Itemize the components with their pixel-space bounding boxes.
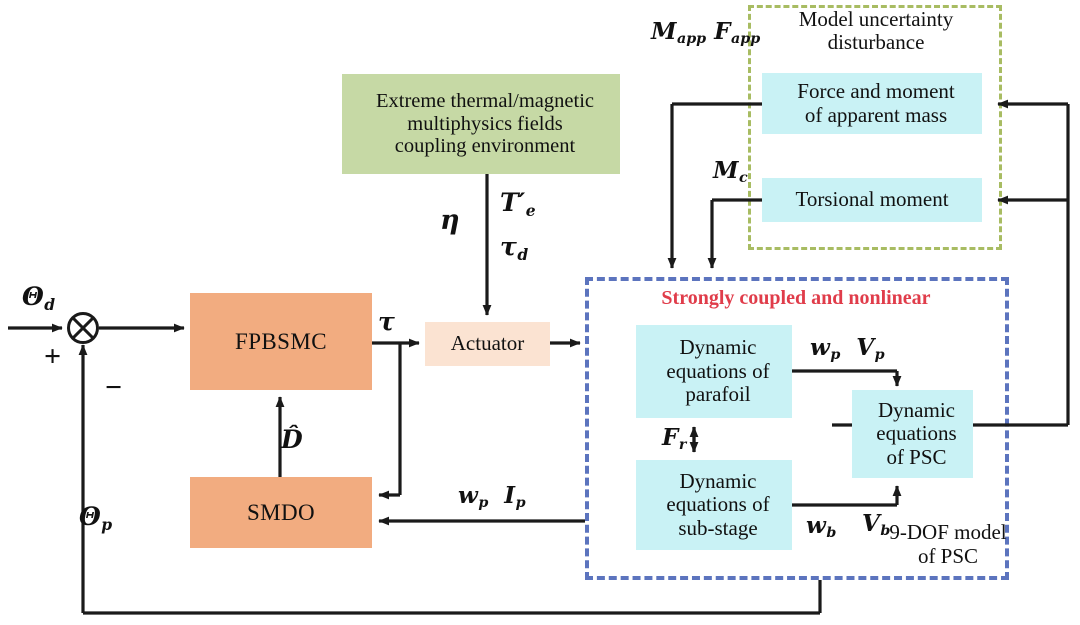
substage-line-2: equations of (640, 493, 796, 517)
vp-sub: p (875, 347, 885, 363)
signal-label-wp-ip: wp Ip (458, 482, 526, 511)
signal-label-theta-p: Θp (79, 502, 112, 534)
substage-line-1: Dynamic (640, 470, 796, 494)
signal-label-tau: τ (378, 307, 395, 336)
block-diagram: Extreme thermal/magnetic multiphysics fi… (0, 0, 1080, 625)
block-psc-dynamics: Dynamic equations of PSC (852, 390, 973, 478)
tau-base: τ (378, 307, 395, 336)
block-environment: Extreme thermal/magnetic multiphysics fi… (342, 74, 620, 174)
te-sub: e (526, 201, 536, 220)
mc-base: M (713, 157, 738, 184)
wb-base: w (806, 512, 826, 539)
parafoil-line-2: equations of (640, 360, 796, 384)
junction-minus-sign: − (105, 371, 122, 405)
strongly-coupled-label: Strongly coupled and nonlinear (661, 287, 930, 309)
psc-line-1: Dynamic (856, 399, 977, 423)
wb-sub: b (826, 525, 836, 541)
group-title-model-uncertainty: Model uncertainty disturbance (757, 8, 995, 54)
environment-line-1: Extreme thermal/magnetic (346, 90, 624, 113)
theta-p-sub: p (101, 515, 112, 534)
signal-label-vb: Vb (862, 510, 890, 539)
block-substage-dynamics: Dynamic equations of sub-stage (636, 460, 792, 550)
torsional-moment-label: Torsional moment (762, 188, 982, 212)
signal-label-wp-vp: wp Vp (810, 334, 885, 363)
fr-sub: r (679, 437, 687, 453)
tau-d-sub: d (517, 245, 528, 264)
block-fpbsmc: FPBSMC (190, 293, 372, 390)
group-title-strongly-coupled: Strongly coupled and nonlinear (594, 287, 998, 310)
environment-line-2: multiphysics fields (346, 113, 624, 136)
plus-label: + (44, 340, 61, 373)
wp-base: w (810, 334, 830, 361)
theta-d-sub: d (44, 295, 55, 314)
psc-line-3: of PSC (856, 446, 977, 470)
wp2-base: w (458, 482, 478, 509)
uncertainty-title-line-1: Model uncertainty (799, 7, 954, 31)
ip-base: I (504, 482, 515, 509)
fpbsmc-label: FPBSMC (190, 329, 372, 355)
psc-line-2: equations (856, 422, 977, 446)
vb-sub: b (880, 523, 890, 539)
mc-sub: c (739, 170, 748, 186)
signal-label-theta-d: Θd (22, 282, 55, 314)
signal-label-wb: wb (806, 512, 836, 541)
tau-d-base: τ (500, 232, 517, 261)
apparent-mass-line-1: Force and moment (766, 80, 986, 104)
actuator-label: Actuator (425, 332, 550, 356)
block-apparent-mass: Force and moment of apparent mass (762, 73, 982, 134)
wp-sub: p (830, 347, 840, 363)
signal-label-te-prime: T′e (500, 188, 536, 220)
model-caption-line-1: 9-DOF model (889, 520, 1006, 544)
mapp-base: M (651, 18, 676, 45)
smdo-label: SMDO (190, 500, 372, 526)
block-smdo: SMDO (190, 477, 372, 548)
signal-label-d-hat: D̂ (281, 425, 303, 454)
apparent-mass-line-2: of apparent mass (766, 104, 986, 128)
environment-line-3: coupling environment (346, 135, 624, 158)
block-torsional-moment: Torsional moment (762, 178, 982, 222)
te-prime-mark: ′ (519, 188, 526, 217)
summing-junction (69, 314, 98, 343)
vp-base: V (856, 334, 874, 361)
parafoil-line-3: parafoil (640, 383, 796, 407)
vb-base: V (862, 510, 880, 537)
parafoil-line-1: Dynamic (640, 336, 796, 360)
uncertainty-title-line-2: disturbance (828, 30, 925, 54)
signal-label-eta: η (440, 205, 460, 236)
mapp-sub: app (677, 31, 706, 47)
fapp-base: F (714, 18, 730, 45)
d-hat-base: D̂ (281, 425, 303, 454)
substage-line-3: sub-stage (640, 517, 796, 541)
ip-sub: p (516, 495, 526, 511)
theta-p-base: Θ (79, 502, 101, 531)
minus-label: − (105, 371, 122, 404)
signal-label-tau-d: τd (500, 232, 528, 264)
signal-label-mapp-fapp: Mapp Fapp (651, 18, 760, 47)
wp2-sub: p (478, 495, 488, 511)
signal-label-fr: Fr (662, 424, 686, 453)
eta-base: η (440, 205, 460, 236)
caption-9dof-model: 9-DOF model of PSC (888, 521, 1008, 568)
block-parafoil-dynamics: Dynamic equations of parafoil (636, 325, 792, 418)
theta-d-base: Θ (22, 282, 44, 311)
model-caption-line-2: of PSC (918, 544, 978, 568)
signal-label-mc: Mc (713, 157, 748, 186)
junction-plus-sign: + (44, 340, 61, 374)
fr-base: F (662, 424, 678, 451)
block-actuator: Actuator (425, 322, 550, 366)
te-base: T (500, 188, 519, 217)
fapp-sub: app (731, 31, 760, 47)
